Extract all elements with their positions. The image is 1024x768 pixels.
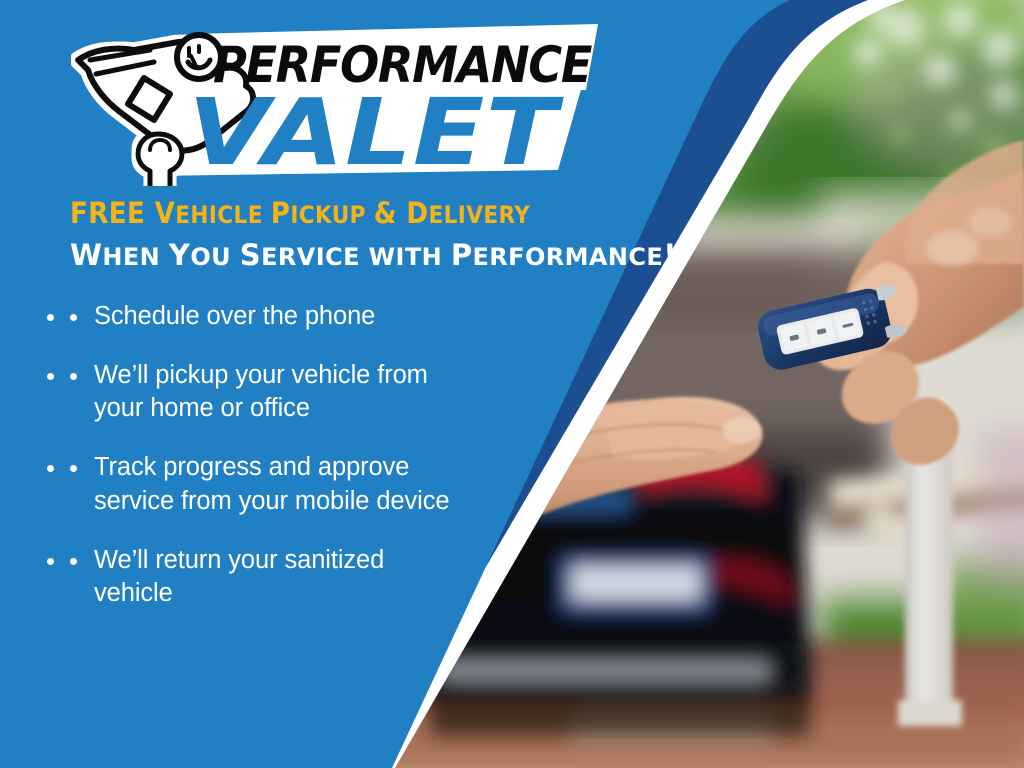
- headline-segment: OU: [190, 243, 239, 271]
- headline-segment: ERFORMANCE: [473, 243, 664, 271]
- list-item-line: We’ll return your sanitized: [94, 544, 588, 577]
- benefits-list: Schedule over the phoneWe’ll pickup your…: [68, 300, 588, 636]
- bullet-dot-icon: [70, 465, 77, 472]
- headline-segment: WITH: [369, 243, 451, 271]
- headline-segment: ICKUP: [290, 201, 373, 229]
- list-item-line: Schedule over the phone: [94, 300, 588, 333]
- list-item-line: Track progress and approve: [94, 451, 588, 484]
- list-item-line: vehicle: [94, 577, 588, 610]
- headline-segment: P: [271, 196, 291, 230]
- headline-segment: D: [406, 196, 428, 230]
- left-content: PERFORMANCE VALET FREE VEHICLE PICKUP & …: [0, 0, 700, 768]
- headline-segment: &: [374, 196, 407, 230]
- headline-segment: W: [70, 238, 102, 272]
- valet-promo-poster: PERFORMANCE VALET FREE VEHICLE PICKUP & …: [0, 0, 1024, 768]
- list-item-line: We’ll pickup your vehicle from: [94, 359, 588, 392]
- list-item-label: Track progress and approveservice from y…: [94, 451, 588, 517]
- list-item-label: We’ll pickup your vehicle fromyour home …: [94, 359, 588, 425]
- headline-segment: S: [240, 238, 261, 272]
- logo-valet-text: VALET: [188, 79, 564, 186]
- headline-segment: Y: [169, 238, 190, 272]
- headline-segment: ERVICE: [261, 243, 369, 271]
- list-item: We’ll pickup your vehicle fromyour home …: [68, 359, 588, 425]
- performance-valet-logo: PERFORMANCE VALET: [58, 16, 603, 186]
- bullet-dot-icon: [70, 373, 77, 380]
- list-item-label: Schedule over the phone: [94, 300, 588, 333]
- list-item-line: your home or office: [94, 392, 588, 425]
- headline-segment: HEN: [102, 243, 169, 271]
- list-item: Track progress and approveservice from y…: [68, 451, 588, 517]
- headline-segment: V: [155, 196, 176, 230]
- list-item: Schedule over the phone: [68, 300, 588, 333]
- headline-line-1: FREE VEHICLE PICKUP & DELIVERY: [70, 196, 690, 232]
- list-item: We’ll return your sanitizedvehicle: [68, 544, 588, 610]
- headline-block: FREE VEHICLE PICKUP & DELIVERY WHEN YOU …: [70, 196, 690, 274]
- headline-segment: !: [663, 238, 677, 272]
- bullet-dot-icon: [70, 558, 77, 565]
- bullet-dot-icon: [70, 314, 77, 321]
- list-item-label: We’ll return your sanitizedvehicle: [94, 544, 588, 610]
- key-icon: [138, 134, 182, 186]
- headline-segment: ELIVERY: [428, 201, 530, 229]
- headline-segment: FREE: [70, 196, 155, 230]
- headline-segment: P: [451, 238, 473, 272]
- headline-line-2: WHEN YOU SERVICE WITH PERFORMANCE!: [70, 237, 690, 274]
- list-item-line: service from your mobile device: [94, 485, 588, 518]
- headline-segment: EHICLE: [175, 201, 271, 229]
